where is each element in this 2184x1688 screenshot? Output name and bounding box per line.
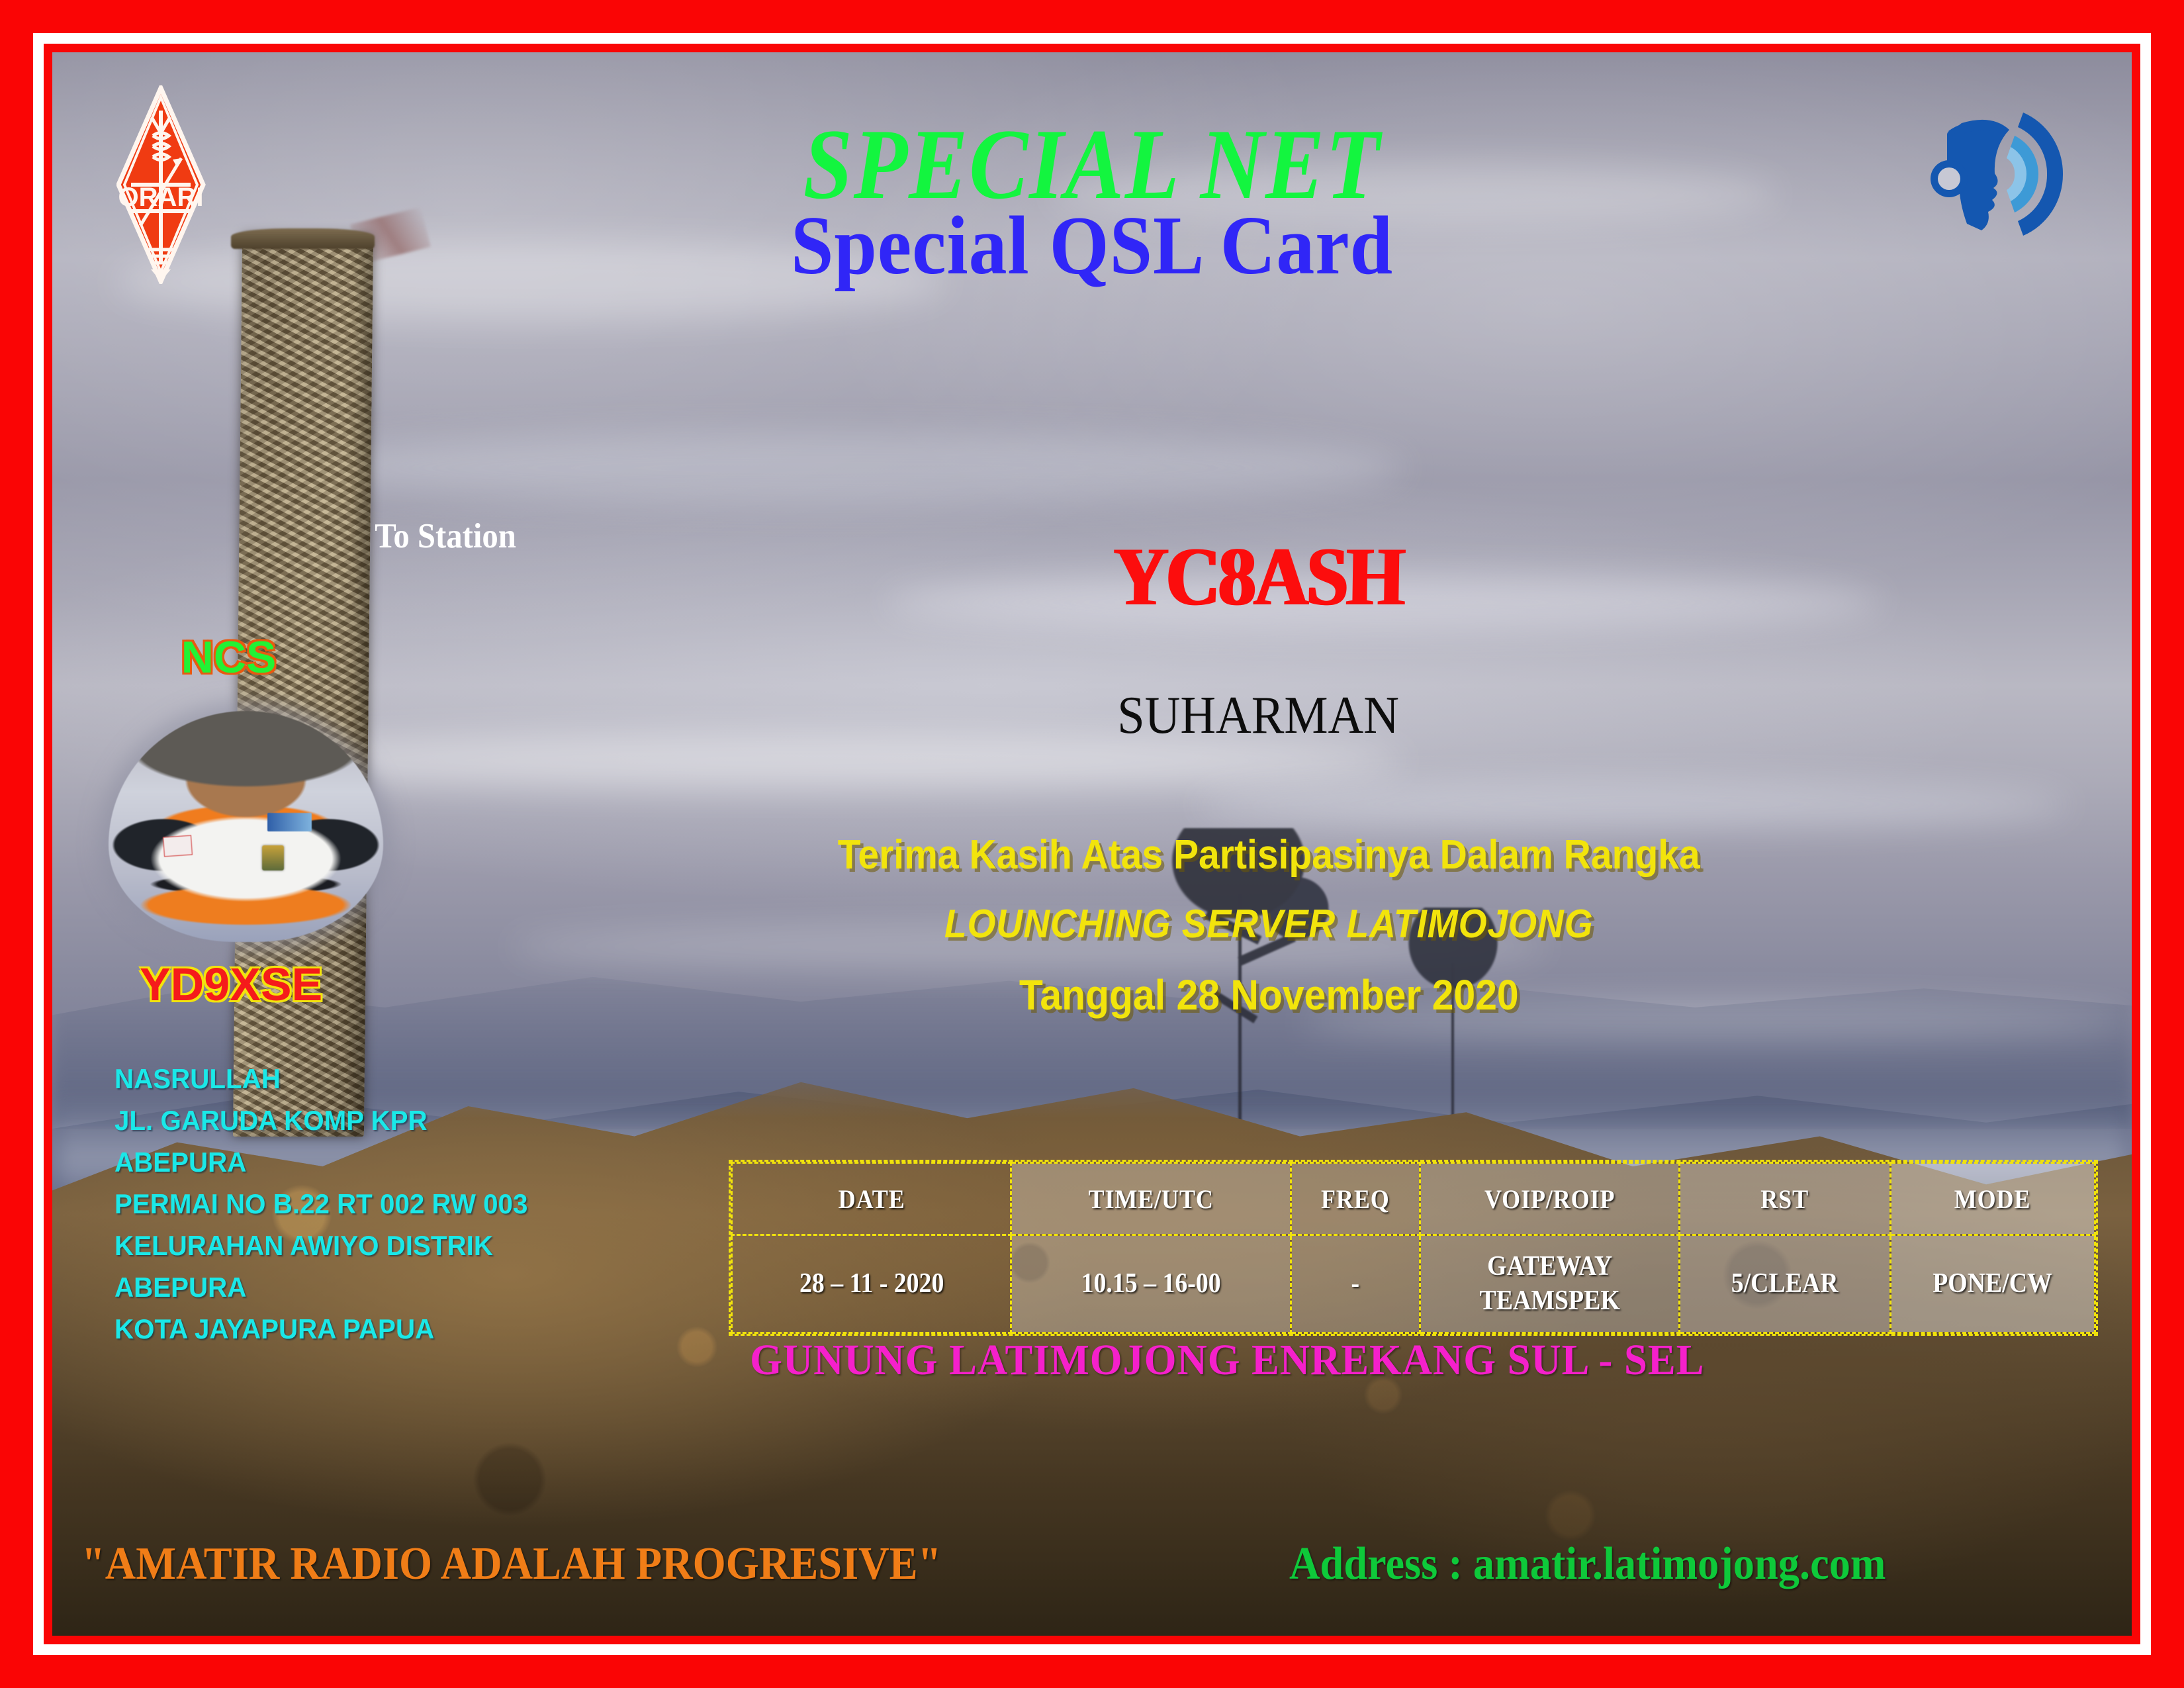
cell-mode: PONE/CW: [1901, 1235, 2085, 1333]
cell-date: 28 – 11 - 2020: [746, 1235, 997, 1333]
location-line: GUNUNG LATIMOJONG ENREKANG SUL - SEL: [486, 1335, 1968, 1385]
column-header-mode: MODE: [1901, 1163, 2085, 1235]
ncs-role-label: NCS: [181, 632, 277, 683]
footer-website: Address : amatir.latimojong.com: [1289, 1538, 1886, 1591]
address-line: NASRULLAH: [114, 1058, 527, 1100]
station-callsign: YC8ASH: [584, 536, 1933, 619]
thanks-message: Terima Kasih Atas Partisipasinya Dalam R…: [551, 831, 1986, 878]
operator-name: SUHARMAN: [562, 689, 1954, 742]
cell-freq: -: [1297, 1235, 1414, 1333]
page-subtitle: Special QSL Card: [136, 205, 2049, 288]
cell-voip: GATEWAY TEAMSPEK: [1433, 1235, 1666, 1333]
column-header-date: DATE: [746, 1163, 997, 1235]
address-line: KELURAHAN AWIYO DISTRIK: [114, 1225, 527, 1266]
qso-table: DATE TIME/UTC FREQ VOIP/ROIP RST MODE 28…: [729, 1160, 2098, 1336]
event-name: LOUNCHING SERVER LATIMOJONG: [551, 901, 1986, 947]
column-header-freq: FREQ: [1297, 1163, 1414, 1235]
footer-slogan: "AMATIR RADIO ADALAH PROGRESIVE": [81, 1538, 941, 1591]
address-line: KOTA JAYAPURA PAPUA: [114, 1308, 527, 1350]
address-line: JL. GARUDA KOMP KPR: [114, 1100, 527, 1141]
card-background-photo: ORARI: [52, 52, 2132, 1636]
ncs-operator-photo: [109, 711, 383, 942]
cell-rst: 5/CLEAR: [1690, 1235, 1880, 1333]
cell-voip-line2: TEAMSPEK: [1479, 1286, 1619, 1316]
ncs-callsign: YD9XSE: [140, 958, 322, 1011]
uniform-emblem: [267, 813, 311, 831]
address-line: PERMAI NO B.22 RT 002 RW 003: [114, 1183, 527, 1225]
uniform-id-badge: [262, 845, 284, 870]
address-line: ABEPURA: [114, 1266, 527, 1308]
column-header-voip: VOIP/ROIP: [1433, 1163, 1666, 1235]
cell-voip-line1: GATEWAY: [1487, 1251, 1612, 1282]
cell-time: 10.15 – 16-00: [1025, 1235, 1277, 1333]
address-line: ABEPURA: [114, 1141, 527, 1183]
table-row: 28 – 11 - 2020 10.15 – 16-00 - GATEWAY T…: [732, 1235, 2095, 1333]
table-header-row: DATE TIME/UTC FREQ VOIP/ROIP RST MODE: [732, 1163, 2095, 1235]
event-date: Tanggal 28 November 2020: [551, 970, 1986, 1019]
address-block: NASRULLAH JL. GARUDA KOMP KPR ABEPURA PE…: [114, 1058, 527, 1350]
uniform-patch: [163, 835, 193, 857]
qsl-card: ORARI: [0, 0, 2184, 1688]
column-header-time: TIME/UTC: [1025, 1163, 1277, 1235]
column-header-rst: RST: [1690, 1163, 1880, 1235]
to-station-label: To Station: [375, 516, 516, 556]
